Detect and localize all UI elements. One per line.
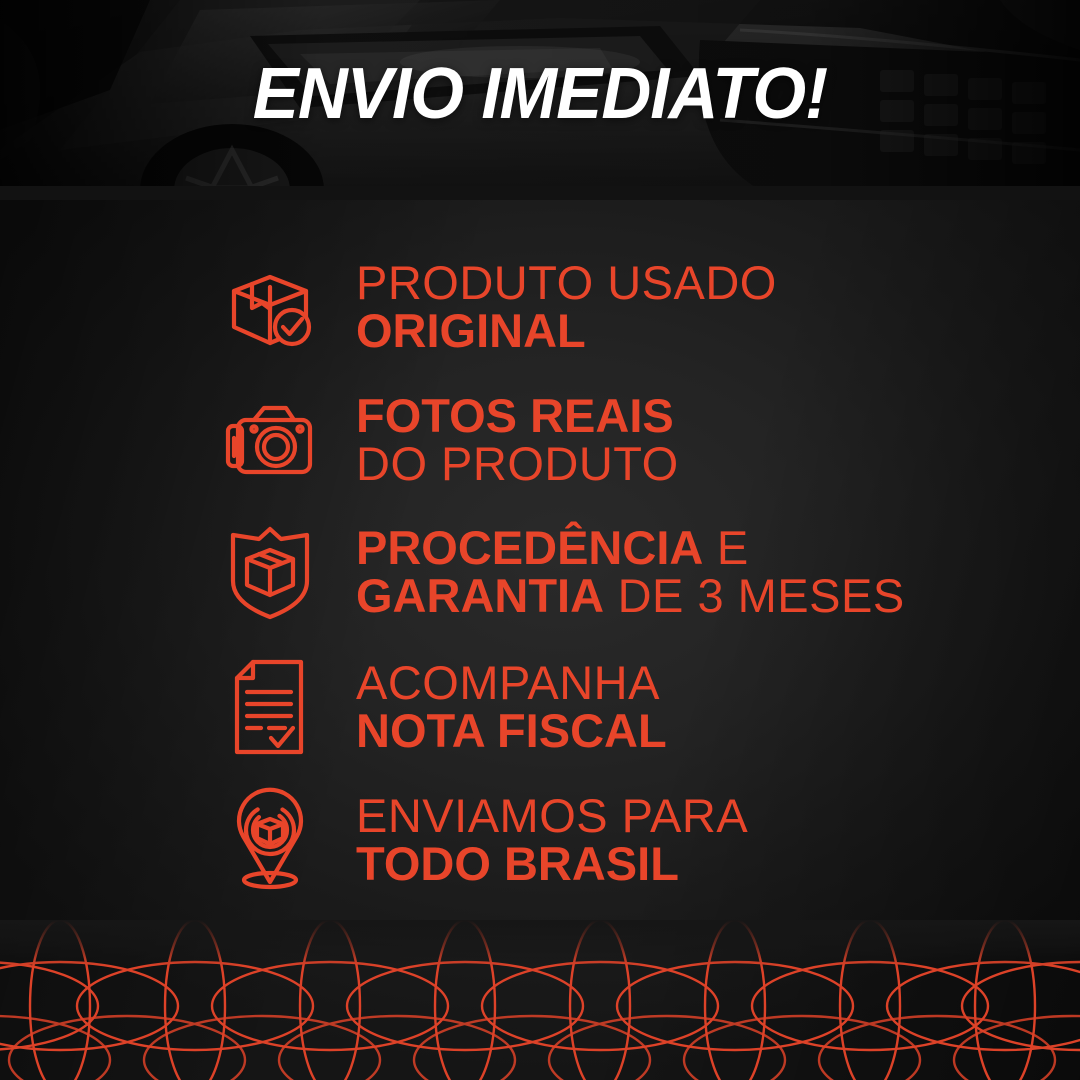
feature-line-2-light: DE 3 MESES <box>604 569 905 622</box>
feature-text: ENVIAMOS PARA TODO BRASIL <box>356 792 748 888</box>
feature-row-nota-fiscal: ACOMPANHA NOTA FISCAL <box>222 655 667 759</box>
feature-line-1: ENVIAMOS PARA <box>356 792 748 840</box>
feature-list: PRODUTO USADO ORIGINAL FOTOS REAIS <box>0 200 1080 930</box>
feature-line-1: PROCEDÊNCIA E <box>356 524 905 572</box>
map-pin-box-icon <box>222 788 318 892</box>
shield-box-icon <box>222 520 318 624</box>
feature-line-2: DO PRODUTO <box>356 440 679 488</box>
feature-line-1: FOTOS REAIS <box>356 392 679 440</box>
feature-line-2: NOTA FISCAL <box>356 707 667 755</box>
invoice-check-icon <box>222 655 318 759</box>
footer-ornament <box>0 920 1080 1080</box>
feature-row-procedencia-garantia: PROCEDÊNCIA E GARANTIA DE 3 MESES <box>222 520 905 624</box>
feature-line-1: PRODUTO USADO <box>356 259 777 307</box>
feature-text: PROCEDÊNCIA E GARANTIA DE 3 MESES <box>356 524 905 620</box>
feature-line-2: GARANTIA DE 3 MESES <box>356 572 905 620</box>
feature-text: FOTOS REAIS DO PRODUTO <box>356 392 679 488</box>
promo-banner: ENVIO IMEDIATO! PRODUTO USADO ORIGINAL <box>0 0 1080 1080</box>
feature-text: PRODUTO USADO ORIGINAL <box>356 259 777 355</box>
feature-line-1: ACOMPANHA <box>356 659 667 707</box>
feature-line-2: TODO BRASIL <box>356 840 748 888</box>
hero-banner: ENVIO IMEDIATO! <box>0 0 1080 202</box>
feature-line-2-bold: GARANTIA <box>356 569 604 622</box>
feature-line-1-bold: PROCEDÊNCIA <box>356 521 703 574</box>
feature-row-todo-brasil: ENVIAMOS PARA TODO BRASIL <box>222 788 748 892</box>
feature-row-fotos-reais: FOTOS REAIS DO PRODUTO <box>222 388 679 492</box>
feature-text: ACOMPANHA NOTA FISCAL <box>356 659 667 755</box>
camera-icon <box>222 388 318 492</box>
page-title: ENVIO IMEDIATO! <box>22 58 1059 130</box>
feature-line-2: ORIGINAL <box>356 307 777 355</box>
feature-row-produto-original: PRODUTO USADO ORIGINAL <box>222 255 777 359</box>
lattice-pattern <box>0 920 1080 1080</box>
box-check-icon <box>222 255 318 359</box>
feature-line-1-light: E <box>703 521 748 574</box>
